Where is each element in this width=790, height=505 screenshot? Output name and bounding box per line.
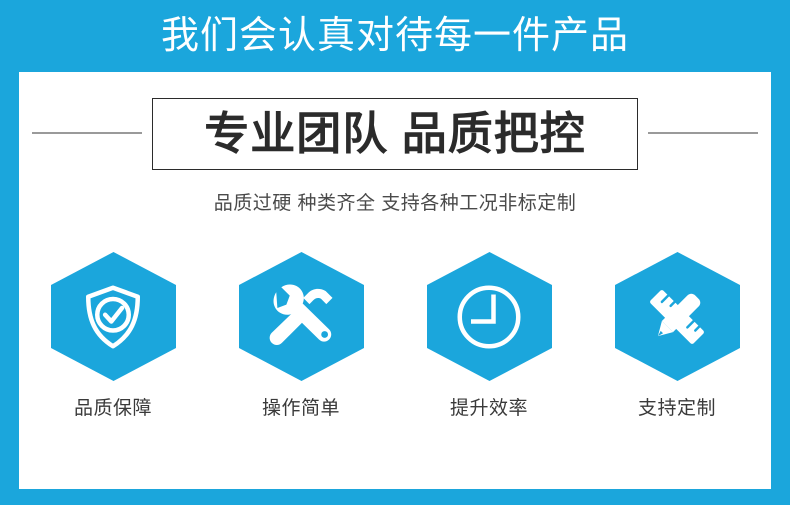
hexagon-badge [423, 250, 556, 383]
banner-header: 我们会认真对待每一件产品 [0, 0, 790, 72]
headline-rule-right [648, 132, 758, 134]
headline-block: 专业团队 品质把控 [19, 98, 771, 174]
headline-subtitle: 品质过硬 种类齐全 支持各种工况非标定制 [19, 192, 771, 216]
feature-item-quality: 品质保障 [33, 250, 193, 421]
feature-label: 提升效率 [450, 397, 528, 421]
headline-title-box: 专业团队 品质把控 [152, 98, 638, 170]
feature-item-easy-operation: 操作简单 [221, 250, 381, 421]
feature-label: 品质保障 [74, 397, 152, 421]
hexagon-badge [235, 250, 368, 383]
feature-label: 支持定制 [638, 397, 716, 421]
hexagon-badge [611, 250, 744, 383]
feature-item-customization: 支持定制 [597, 250, 757, 421]
ruler-pencil-icon [641, 281, 713, 353]
clock-icon [453, 281, 525, 353]
promo-banner: 我们会认真对待每一件产品 专业团队 品质把控 品质过硬 种类齐全 支持各种工况非… [0, 0, 790, 505]
header-title: 我们会认真对待每一件产品 [161, 15, 629, 57]
shield-check-icon [77, 281, 149, 353]
content-panel: 专业团队 品质把控 品质过硬 种类齐全 支持各种工况非标定制 [19, 72, 771, 489]
feature-list: 品质保障 [19, 250, 771, 450]
wrench-hammer-icon [265, 281, 337, 353]
feature-label: 操作简单 [262, 397, 340, 421]
headline-title: 专业团队 品质把控 [204, 110, 586, 158]
headline-rule-left [32, 132, 142, 134]
feature-item-efficiency: 提升效率 [409, 250, 569, 421]
hexagon-badge [47, 250, 180, 383]
